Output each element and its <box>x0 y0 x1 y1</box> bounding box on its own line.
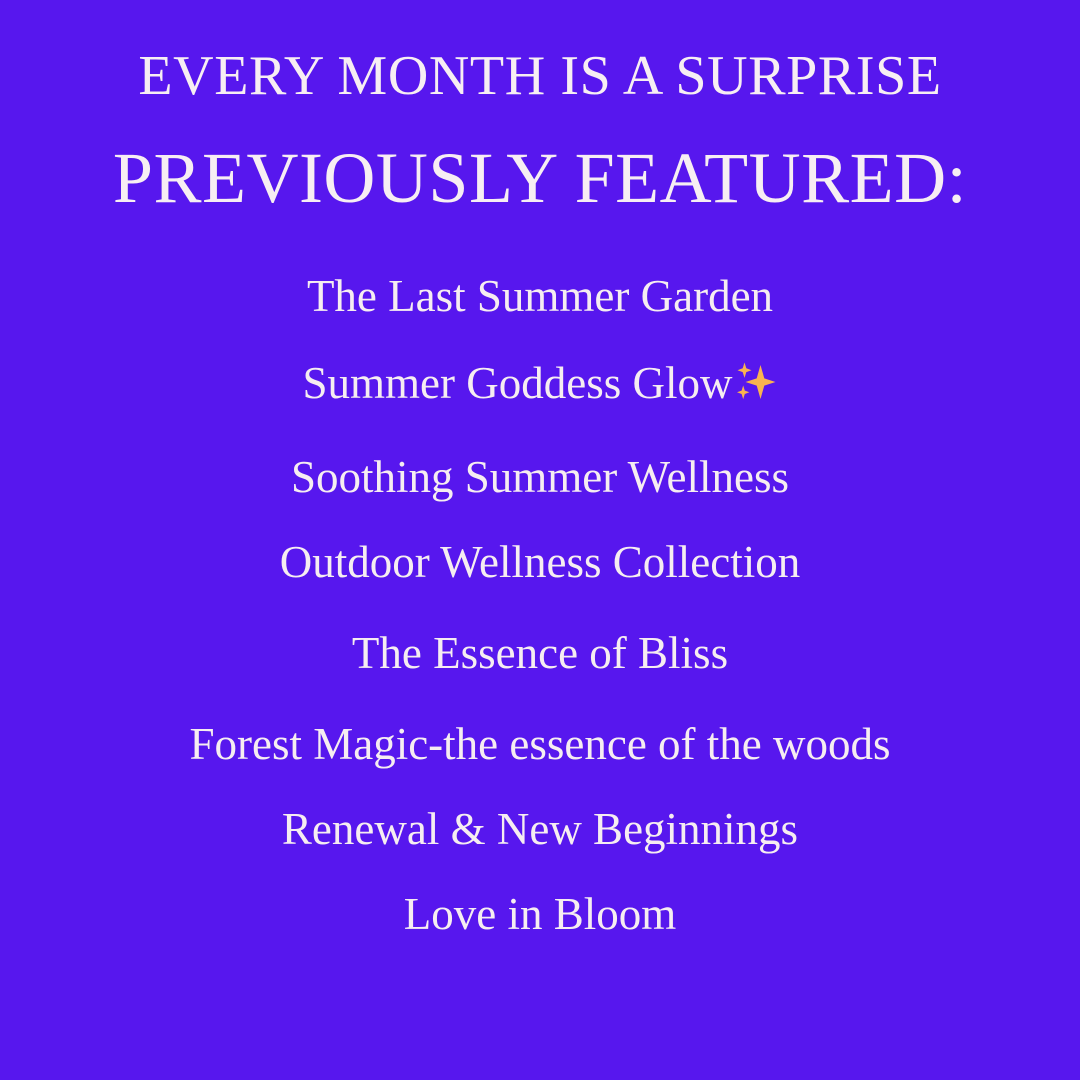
list-item-label: Love in Bloom <box>404 889 676 939</box>
list-item: Summer Goddess Glow <box>0 359 1080 406</box>
list-item: The Last Summer Garden <box>0 274 1080 319</box>
list-item: Renewal & New Beginnings <box>0 807 1080 852</box>
list-item: Soothing Summer Wellness <box>0 455 1080 500</box>
list-item-label: Forest Magic-the essence of the woods <box>189 719 890 769</box>
list-item: The Essence of Bliss <box>0 631 1080 676</box>
list-item-label: Outdoor Wellness Collection <box>280 537 801 587</box>
list-item-label: Renewal & New Beginnings <box>282 804 798 854</box>
list-item-label: Summer Goddess Glow <box>303 358 733 408</box>
sparkles-icon <box>731 359 777 405</box>
list-item-label: The Last Summer Garden <box>307 271 773 321</box>
list-item-label: Soothing Summer Wellness <box>291 452 789 502</box>
list-item-label: The Essence of Bliss <box>352 628 728 678</box>
headline-secondary: PREVIOUSLY FEATURED: <box>113 142 967 214</box>
list-item: Forest Magic-the essence of the woods <box>0 722 1080 767</box>
list-item: Outdoor Wellness Collection <box>0 540 1080 585</box>
list-item: Love in Bloom <box>0 892 1080 937</box>
headline-primary: EVERY MONTH IS A SURPRISE <box>138 48 941 104</box>
promo-poster: EVERY MONTH IS A SURPRISE PREVIOUSLY FEA… <box>0 0 1080 1080</box>
